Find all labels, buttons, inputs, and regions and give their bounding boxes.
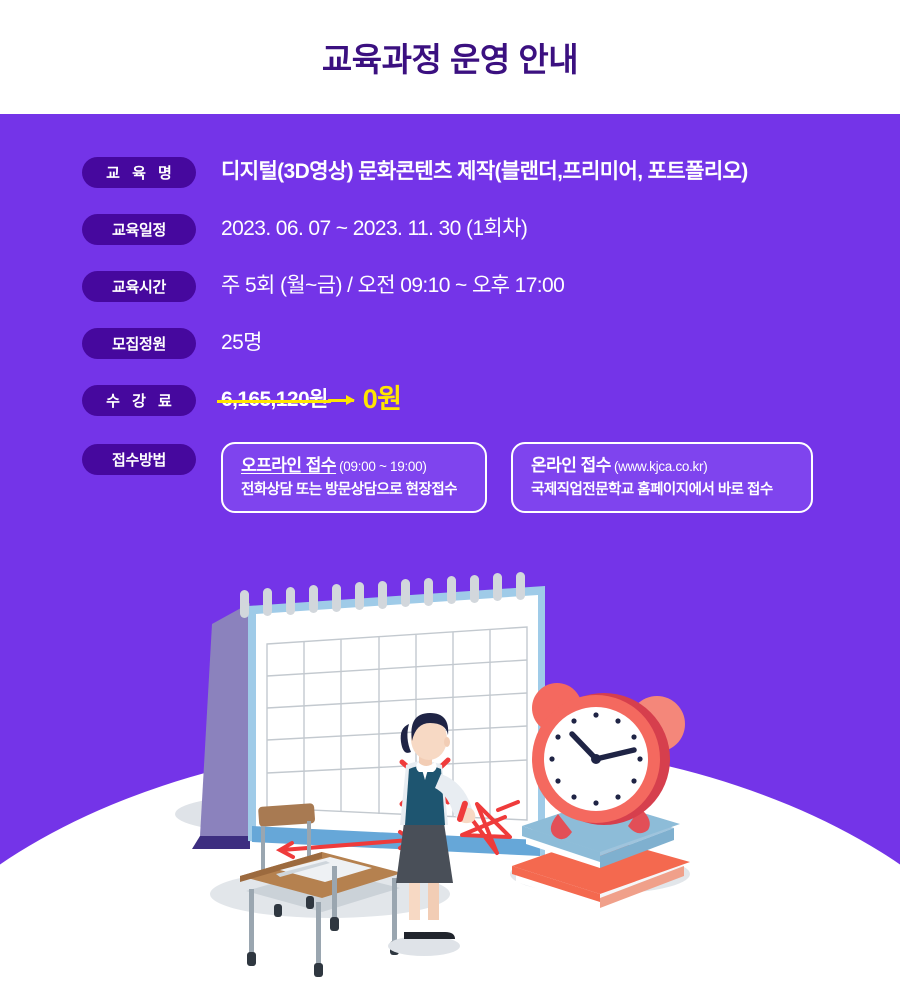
label-chip-class-time: 교육시간: [82, 271, 196, 302]
info-row-course-name: 교 육 명 디지털(3D영상) 문화콘텐츠 제작(블랜더,프리미어, 포트폴리오…: [0, 155, 900, 188]
student-hair: [411, 713, 448, 741]
course-announcement-page: 교육과정 운영 안내 교 육 명 디지털(3D영상) 문화콘텐츠 제작(블랜더,…: [0, 0, 900, 981]
value-capacity: 25명: [221, 326, 262, 359]
value-course-name: 디지털(3D영상) 문화콘텐츠 제작(블랜더,프리미어, 포트폴리오): [221, 155, 748, 188]
online-apply-heading: 온라인 접수(www.kjca.co.kr): [531, 455, 793, 477]
online-apply-box[interactable]: 온라인 접수(www.kjca.co.kr) 국제직업전문학교 홈페이지에서 바…: [511, 442, 813, 513]
label-chip-capacity: 모집정원: [82, 328, 196, 359]
info-row-apply-method: 접수방법 오프라인 접수(09:00 ~ 19:00) 전화상담 또는 방문상담…: [0, 442, 900, 513]
info-row-class-time: 교육시간 주 5회 (월~금) / 오전 09:10 ~ 오후 17:00: [0, 269, 900, 302]
label-chip-tuition: 수 강 료: [82, 385, 196, 416]
page-title: 교육과정 운영 안내: [322, 39, 578, 76]
online-apply-description: 국제직업전문학교 홈페이지에서 바로 접수: [531, 481, 793, 499]
apply-method-boxes: 오프라인 접수(09:00 ~ 19:00) 전화상담 또는 방문상담으로 현장…: [221, 442, 813, 513]
info-row-tuition: 수 강 료 6,165,120원 0원: [0, 383, 900, 416]
white-floor-ellipse: [0, 741, 900, 981]
info-row-schedule: 교육일정 2023. 06. 07 ~ 2023. 11. 30 (1회차): [0, 212, 900, 245]
offline-apply-heading: 오프라인 접수(09:00 ~ 19:00): [241, 455, 467, 477]
right-arrow-icon: [328, 399, 354, 402]
online-apply-url: (www.kjca.co.kr): [614, 459, 707, 474]
offline-apply-box[interactable]: 오프라인 접수(09:00 ~ 19:00) 전화상담 또는 방문상담으로 현장…: [221, 442, 487, 513]
purple-content-panel: 교 육 명 디지털(3D영상) 문화콘텐츠 제작(블랜더,프리미어, 포트폴리오…: [0, 114, 900, 981]
offline-apply-hours: (09:00 ~ 19:00): [339, 459, 426, 474]
tuition-discounted-price: 0원: [363, 383, 402, 416]
title-band: 교육과정 운영 안내: [0, 0, 900, 114]
offline-apply-title: 오프라인 접수: [241, 456, 336, 475]
label-chip-apply-method: 접수방법: [82, 444, 196, 475]
course-info-list: 교 육 명 디지털(3D영상) 문화콘텐츠 제작(블랜더,프리미어, 포트폴리오…: [0, 114, 900, 513]
offline-apply-description: 전화상담 또는 방문상담으로 현장접수: [241, 481, 467, 499]
calendar-spiral-rings: [240, 572, 525, 618]
info-row-capacity: 모집정원 25명: [0, 326, 900, 359]
value-schedule: 2023. 06. 07 ~ 2023. 11. 30 (1회차): [221, 212, 527, 245]
tuition-value-group: 6,165,120원 0원: [221, 383, 401, 416]
label-chip-course-name: 교 육 명: [82, 157, 196, 188]
label-chip-schedule: 교육일정: [82, 214, 196, 245]
tuition-original-price: 6,165,120원: [221, 383, 328, 416]
clock-bell-left: [532, 683, 582, 733]
value-class-time: 주 5회 (월~금) / 오전 09:10 ~ 오후 17:00: [221, 269, 564, 302]
clock-bell-right: [629, 696, 685, 752]
online-apply-title: 온라인 접수: [531, 456, 611, 475]
